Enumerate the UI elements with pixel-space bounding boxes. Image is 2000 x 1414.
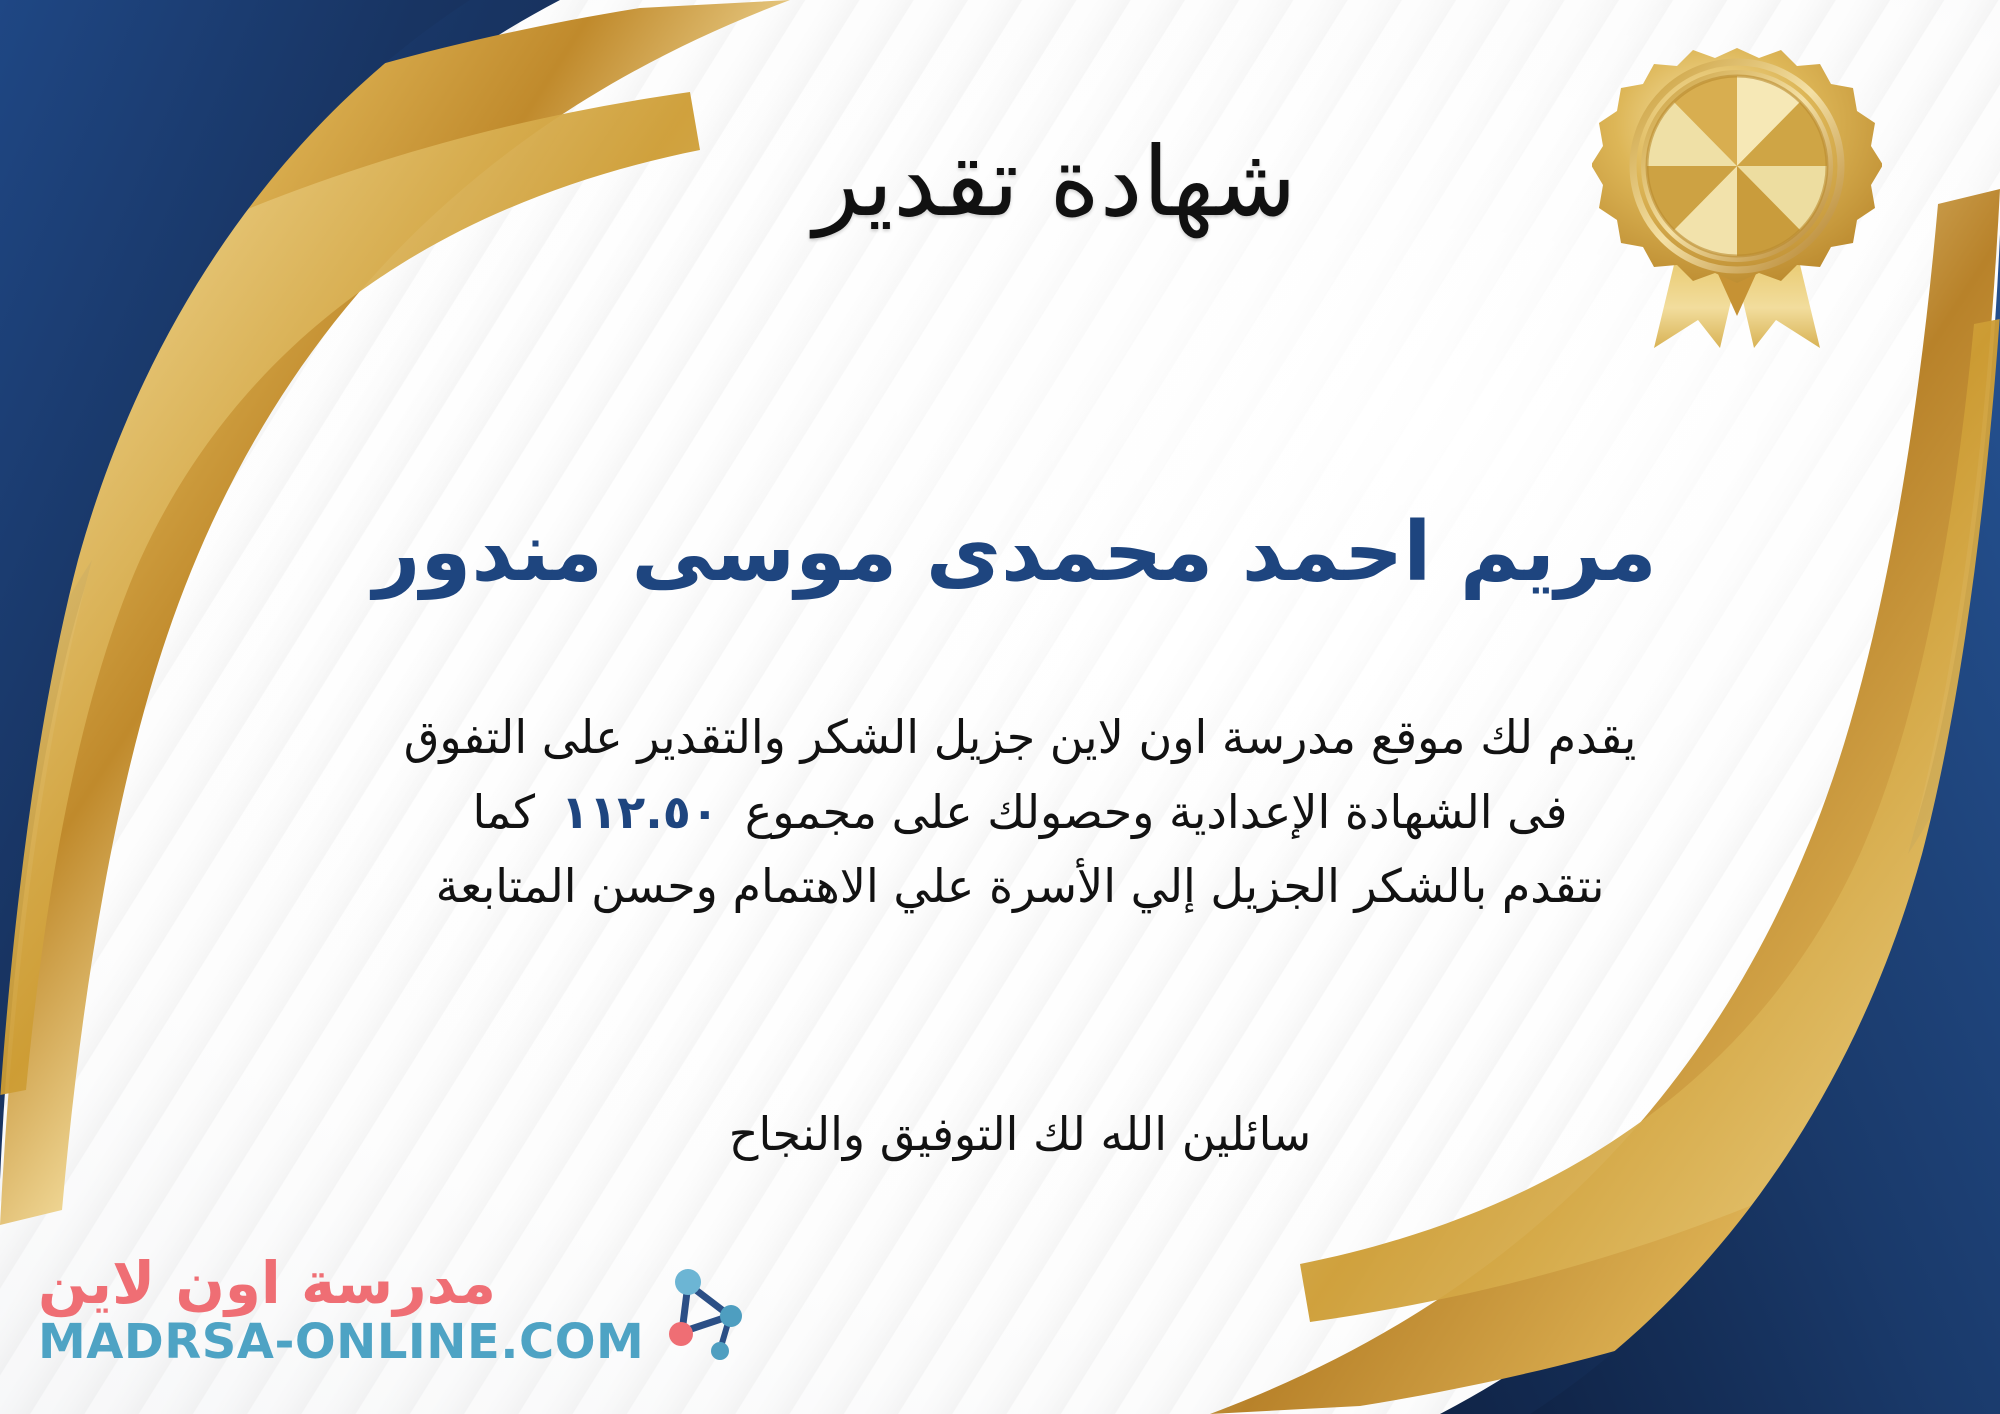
total-score-value: ١١٢.٥٠ xyxy=(535,785,745,839)
body-line-3: نتقدم بالشكر الجزيل إلي الأسرة علي الاهت… xyxy=(150,849,1890,924)
certificate-page: شهادة تقدير مريم احمد محمدى موسى مندور ي… xyxy=(0,0,2000,1414)
brand-text-group: مدرسة اون لاين MADRSA-ONLINE.COM xyxy=(38,1254,644,1366)
brand-name-arabic: مدرسة اون لاين xyxy=(38,1254,496,1312)
page-title: شهادة تقدير xyxy=(0,132,2000,233)
body-line-1: يقدم لك موقع مدرسة اون لاين جزيل الشكر و… xyxy=(150,700,1890,775)
recipient-name: مريم احمد محمدى موسى مندور xyxy=(0,505,2000,600)
closing-wish-text: سائلين الله لك التوفيق والنجاح xyxy=(150,1100,1890,1169)
body-line-2-suffix: كما xyxy=(472,785,535,839)
body-line-2-prefix: فى الشهادة الإعدادية وحصولك على مجموع xyxy=(745,785,1568,839)
brand-website-url: MADRSA-ONLINE.COM xyxy=(38,1318,644,1366)
certificate-body-text: يقدم لك موقع مدرسة اون لاين جزيل الشكر و… xyxy=(150,700,1890,924)
body-line-2: فى الشهادة الإعدادية وحصولك على مجموع١١٢… xyxy=(150,775,1890,850)
brand-logo: مدرسة اون لاين MADRSA-ONLINE.COM xyxy=(38,1254,754,1366)
network-nodes-logo-icon xyxy=(658,1258,754,1362)
